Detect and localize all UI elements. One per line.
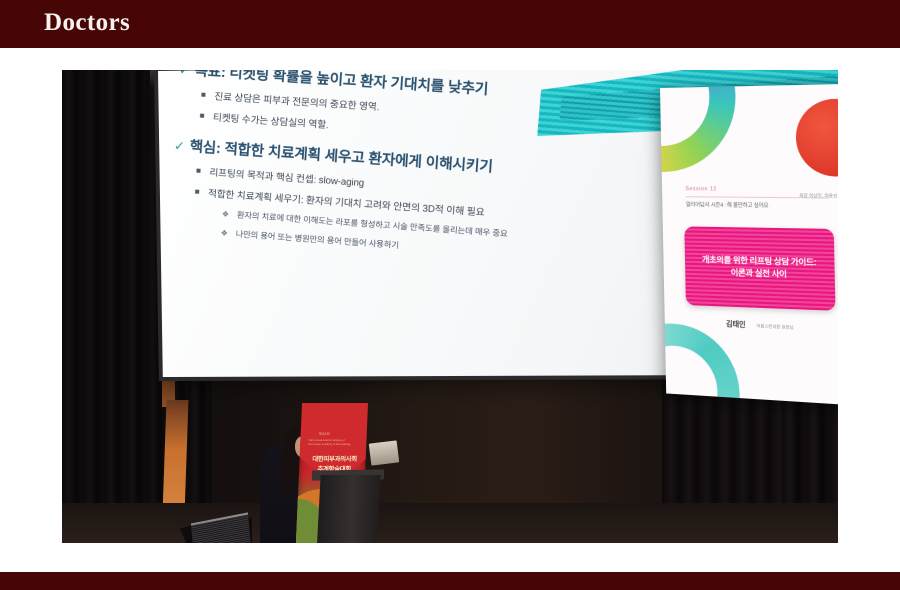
slide-bullet-1-1-label: 진료 상담은 피부과 전문의의 중요한 영역. [214,91,380,113]
session-chair: 좌장 이상무, 의용진 [799,193,837,200]
podium-banner-english-line2: the Korean Academy of Dermatology [308,443,351,446]
presentation-title: 개초의를 위한 리프팅 상담 가이드: 이론과 실전 사이 [702,254,817,282]
square-bullet-icon [195,190,199,194]
masthead-bar: Doctors [0,0,900,48]
footer-bar [0,572,900,590]
podium-laptop [369,440,399,465]
square-bullet-icon [200,114,204,118]
podium-banner-english: 26th Annual Autumn Meeting of the Korean… [308,439,351,447]
stage-floor [62,503,838,543]
session-poster-panel: Session 12 얼리어답서 시즌4 : 해 볼만하고 싶어요 좌장 이상무… [660,84,838,406]
diamond-bullet-icon: ❖ [222,209,230,219]
conference-photo: Doctors ✓측표: 티켓팅 확률을 높이고 환자 기대치를 낮추기 진료 … [62,70,838,543]
presentation-title-line1: 개초의를 위한 리프팅 상담 가이드: [702,255,816,267]
speaker-affiliation: 아름스킨의원 원장님 [756,323,793,331]
session-subtitle: 얼리어답서 시즌4 : 해 볼만하고 싶어요 [686,200,769,209]
speaker-name: 김태인 [726,319,746,330]
check-icon: ✓ [178,70,190,78]
podium-banner-english-line1: 26th Annual Autumn Meeting of [308,439,344,442]
session-label: Session 12 [685,186,717,192]
diamond-bullet-icon: ❖ [220,228,228,238]
square-bullet-icon [196,169,200,173]
red-circle-graphic [795,98,838,176]
presenter-hair-side [281,442,294,494]
podium [313,475,380,543]
slide-bullet-2-1-label: 리프팅의 목적과 핵심 컨셉: slow-aging [209,167,364,189]
presentation-title-line2: 이론과 실전 사이 [731,268,787,279]
check-icon: ✓ [174,138,186,154]
site-logo[interactable]: Doctors [44,9,130,37]
podium-banner-korean-line1: 대한피부과의사회 [312,456,357,463]
presentation-title-card: 개초의를 위한 리프팅 상담 가이드: 이론과 실전 사이 [684,226,835,310]
square-bullet-icon [201,93,205,97]
podium-banner-edition: 제26회 [319,431,330,436]
